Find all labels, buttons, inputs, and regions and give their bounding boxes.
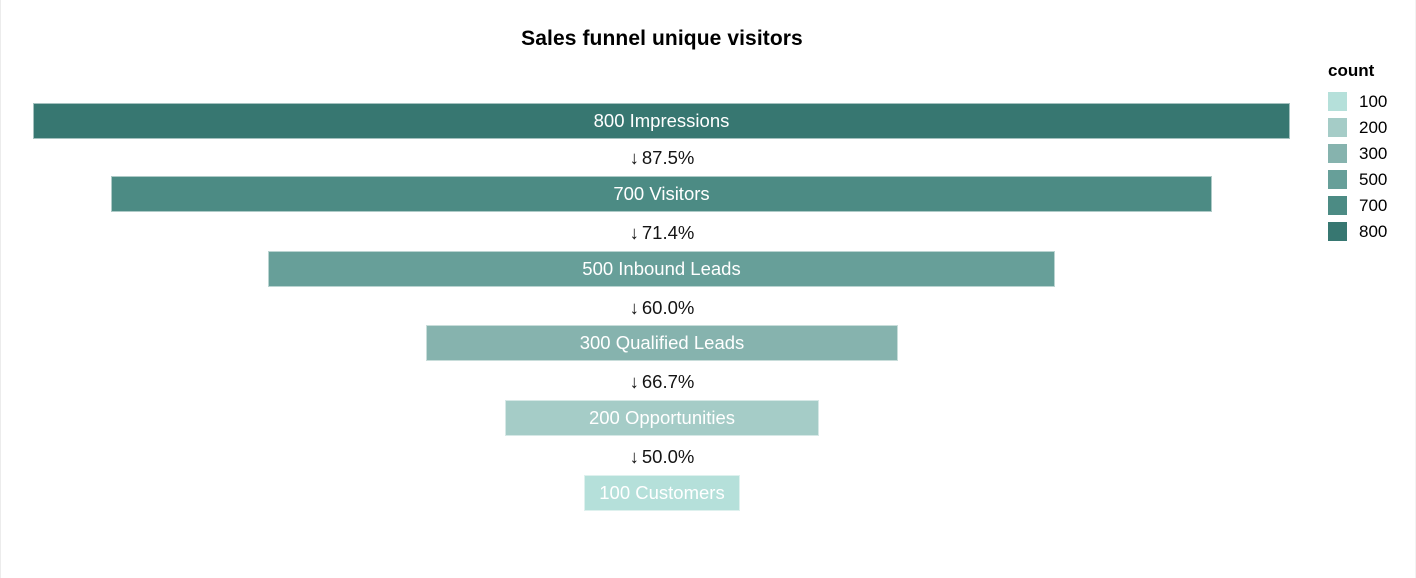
legend-swatch-icon — [1328, 196, 1347, 215]
legend-title: count — [1328, 62, 1416, 81]
funnel-stage-row: 700 Visitors — [1, 176, 1323, 212]
funnel-stage-row: 500 Inbound Leads — [1, 251, 1323, 287]
funnel-stage-row: 200 Opportunities — [1, 400, 1323, 436]
legend-item[interactable]: 500 — [1328, 167, 1416, 193]
funnel-bar[interactable]: 800 Impressions — [33, 103, 1290, 139]
legend-swatch-icon — [1328, 144, 1347, 163]
funnel-bar-label: 700 Visitors — [613, 185, 709, 204]
legend-swatch-icon — [1328, 118, 1347, 137]
funnel-dropoff-row: ↓71.4% — [1, 219, 1323, 247]
legend-swatch-icon — [1328, 92, 1347, 111]
funnel-dropoff-label: 50.0% — [642, 448, 694, 467]
funnel-bar-label: 200 Opportunities — [589, 409, 735, 428]
legend-item[interactable]: 800 — [1328, 219, 1416, 245]
legend-item-label: 100 — [1359, 93, 1387, 110]
legend-item-label: 300 — [1359, 145, 1387, 162]
arrow-down-icon: ↓ — [630, 297, 639, 319]
legend-item[interactable]: 700 — [1328, 193, 1416, 219]
arrow-down-icon: ↓ — [630, 147, 639, 169]
funnel-bar[interactable]: 300 Qualified Leads — [426, 325, 898, 361]
funnel-dropoff-row: ↓87.5% — [1, 144, 1323, 172]
plot-area: 800 Impressions700 Visitors500 Inbound L… — [1, 0, 1323, 578]
funnel-bar-label: 800 Impressions — [594, 112, 730, 131]
funnel-bar[interactable]: 500 Inbound Leads — [268, 251, 1055, 287]
funnel-bar-label: 500 Inbound Leads — [582, 260, 740, 279]
funnel-dropoff-row: ↓60.0% — [1, 294, 1323, 322]
funnel-dropoff-label: 60.0% — [642, 299, 694, 318]
arrow-down-icon: ↓ — [630, 371, 639, 393]
funnel-bar[interactable]: 200 Opportunities — [505, 400, 819, 436]
funnel-dropoff-label: 66.7% — [642, 373, 694, 392]
legend-swatch-icon — [1328, 170, 1347, 189]
funnel-bar[interactable]: 100 Customers — [584, 475, 740, 511]
funnel-stage-row: 100 Customers — [1, 475, 1323, 511]
funnel-dropoff-row: ↓66.7% — [1, 368, 1323, 396]
legend-items: 100200300500700800 — [1328, 89, 1416, 245]
legend-item[interactable]: 200 — [1328, 115, 1416, 141]
funnel-dropoff-label: 87.5% — [642, 149, 694, 168]
legend-item-label: 500 — [1359, 171, 1387, 188]
funnel-dropoff-label: 71.4% — [642, 224, 694, 243]
legend-item[interactable]: 300 — [1328, 141, 1416, 167]
funnel-stage-row: 800 Impressions — [1, 103, 1323, 139]
legend-item-label: 700 — [1359, 197, 1387, 214]
legend-item[interactable]: 100 — [1328, 89, 1416, 115]
funnel-stage-row: 300 Qualified Leads — [1, 325, 1323, 361]
funnel-bar-label: 300 Qualified Leads — [580, 334, 745, 353]
funnel-dropoff-row: ↓50.0% — [1, 443, 1323, 471]
legend-swatch-icon — [1328, 222, 1347, 241]
arrow-down-icon: ↓ — [630, 222, 639, 244]
legend-item-label: 800 — [1359, 223, 1387, 240]
legend-item-label: 200 — [1359, 119, 1387, 136]
legend: count 100200300500700800 — [1328, 62, 1416, 245]
funnel-chart-container: Sales funnel unique visitors 800 Impress… — [0, 0, 1416, 578]
arrow-down-icon: ↓ — [630, 446, 639, 468]
funnel-bar[interactable]: 700 Visitors — [111, 176, 1212, 212]
funnel-bar-label: 100 Customers — [599, 484, 724, 503]
